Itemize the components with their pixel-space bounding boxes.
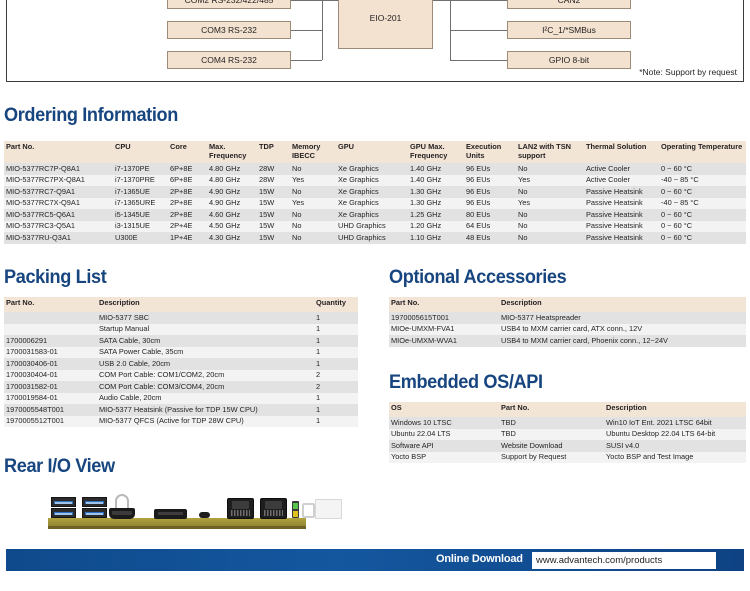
- cell-tdp: 28W: [257, 175, 290, 187]
- table-row: MIO-5377RC5-Q6A1 i5-1345UE 2P+8E 4.60 GH…: [4, 209, 746, 221]
- cell-tdp: 15W: [257, 221, 290, 233]
- section-title-rear-io-view: Rear I/O View: [4, 455, 115, 478]
- col-quantity: Quantity: [314, 297, 358, 313]
- diagram-line: [291, 30, 322, 31]
- table-row: 1700031583-01 SATA Power Cable, 35cm 1: [4, 347, 358, 359]
- cell-part-no: TBD: [499, 429, 604, 441]
- pcb-edge: [48, 526, 306, 529]
- cell-lan2: Yes: [516, 198, 584, 210]
- table-row: MIOe-UMXM-FVA1 USB4 to MXM carrier card,…: [389, 324, 746, 336]
- col-part-no: Part No.: [499, 402, 604, 418]
- cell-cpu: i7-1370PE: [113, 163, 168, 175]
- table-row: Windows 10 LTSC TBD Win10 IoT Ent. 2021 …: [389, 417, 746, 429]
- cell-max-freq: 4.80 GHz: [207, 175, 257, 187]
- cell-part-no: 1700030406-01: [4, 358, 97, 370]
- cell-tdp: 28W: [257, 163, 290, 175]
- cell-part-no: Support by Request: [499, 452, 604, 464]
- cell-thermal: Passive Heatsink: [584, 198, 659, 210]
- cell-part-no: 1700030404-01: [4, 370, 97, 382]
- table-row: Yocto BSP Support by Request Yocto BSP a…: [389, 452, 746, 464]
- cell-core: 6P+8E: [168, 163, 207, 175]
- cell-description: Audio Cable, 20cm: [97, 393, 314, 405]
- cell-thermal: Active Cooler: [584, 175, 659, 187]
- cell-lan2: No: [516, 163, 584, 175]
- col-max-freq: Max. Frequency: [207, 141, 257, 164]
- cell-description: USB 2.0 Cable, 20cm: [97, 358, 314, 370]
- online-download-url[interactable]: www.advantech.com/products: [532, 552, 716, 569]
- block-diagram-frame: COM2 RS-232/422/485 COM3 RS-232 COM4 RS-…: [6, 0, 744, 82]
- cell-gpu-freq: 1.10 GHz: [408, 232, 464, 244]
- diagram-line: [291, 0, 322, 1]
- cell-temp: 0 ~ 60 °C: [659, 221, 746, 233]
- cell-description: USB4 to MXM carrier card, ATX conn., 12V: [499, 324, 746, 336]
- table-row: 1700031582-01 COM Port Cable: COM3/COM4,…: [4, 381, 358, 393]
- cell-core: 2P+4E: [168, 221, 207, 233]
- section-title-optional-accessories: Optional Accessories: [389, 266, 566, 289]
- col-description: Description: [604, 402, 746, 418]
- cell-description: SATA Cable, 30cm: [97, 335, 314, 347]
- optional-accessories-table: Part No. Description 1970005615T001 MIO-…: [389, 296, 746, 347]
- cell-tdp: 15W: [257, 209, 290, 221]
- cell-gpu: Xe Graphics: [336, 175, 408, 187]
- col-os: OS: [389, 402, 499, 418]
- cell-part-no: 1970005512T001: [4, 416, 97, 428]
- col-part-no: Part No.: [4, 141, 113, 164]
- cell-description: MIO-5377 SBC: [97, 312, 314, 324]
- col-thermal: Thermal Solution: [584, 141, 659, 164]
- cell-tdp: 15W: [257, 232, 290, 244]
- col-gpu: GPU: [336, 141, 408, 164]
- diagram-line: [450, 0, 507, 1]
- diagram-block-com2: COM2 RS-232/422/485: [167, 0, 291, 9]
- cell-temp: -40 ~ 85 °C: [659, 175, 746, 187]
- cell-max-freq: 4.90 GHz: [207, 198, 257, 210]
- cell-gpu-freq: 1.40 GHz: [408, 163, 464, 175]
- cell-tdp: 15W: [257, 186, 290, 198]
- section-title-ordering: Ordering Information: [4, 104, 178, 127]
- cell-lan2: Yes: [516, 175, 584, 187]
- cell-description: SATA Power Cable, 35cm: [97, 347, 314, 359]
- packing-list-table: Part No. Description Quantity MIO-5377 S…: [4, 296, 358, 427]
- usb3-port-icon: [82, 508, 107, 518]
- cell-part-no: 1700031582-01: [4, 381, 97, 393]
- cell-part-no: 1700019584-01: [4, 393, 97, 405]
- cell-gpu-freq: 1.30 GHz: [408, 186, 464, 198]
- table-header-row: Part No. Description: [389, 297, 746, 313]
- footer-bar: Online Download www.advantech.com/produc…: [6, 549, 744, 571]
- col-description: Description: [97, 297, 314, 313]
- rear-io-photo: [43, 492, 314, 538]
- col-description: Description: [499, 297, 746, 313]
- cell-description: MIO-5377 QFCS (Active for TDP 28W CPU): [97, 416, 314, 428]
- cell-thermal: Passive Heatsink: [584, 186, 659, 198]
- cell-description: Win10 IoT Ent. 2021 LTSC 64bit: [604, 417, 746, 429]
- cell-description: Startup Manual: [97, 324, 314, 336]
- cell-part-no: TBD: [499, 417, 604, 429]
- cell-description: MIO-5377 Heatspreader: [499, 312, 746, 324]
- cell-part-no: MIOe-UMXM-FVA1: [389, 324, 499, 336]
- cell-description: USB4 to MXM carrier card, Phoenix conn.,…: [499, 335, 746, 347]
- cell-lan2: No: [516, 186, 584, 198]
- cell-eus: 96 EUs: [464, 175, 516, 187]
- cell-tdp: 15W: [257, 198, 290, 210]
- table-row: MIOe-UMXM-WVA1 USB4 to MXM carrier card,…: [389, 335, 746, 347]
- col-lan2-tsn: LAN2 with TSN support: [516, 141, 584, 164]
- cell-lan2: No: [516, 209, 584, 221]
- cell-quantity: 1: [314, 404, 358, 416]
- os-api-table-body: Windows 10 LTSC TBD Win10 IoT Ent. 2021 …: [389, 417, 746, 463]
- cell-part-no: MIOe-UMXM-WVA1: [389, 335, 499, 347]
- accessories-table-body: 1970005615T001 MIO-5377 Heatspreader MIO…: [389, 312, 746, 347]
- table-row: Startup Manual 1: [4, 324, 358, 336]
- cell-lan2: No: [516, 232, 584, 244]
- col-part-no: Part No.: [4, 297, 97, 313]
- table-row: Ubuntu 22.04 LTS TBD Ubuntu Desktop 22.0…: [389, 429, 746, 441]
- cell-gpu: Xe Graphics: [336, 198, 408, 210]
- cell-os: Ubuntu 22.04 LTS: [389, 429, 499, 441]
- cell-part-no: 1700031583-01: [4, 347, 97, 359]
- cell-eus: 64 EUs: [464, 221, 516, 233]
- cell-description: MIO-5377 Heatsink (Passive for TDP 15W C…: [97, 404, 314, 416]
- cell-eus: 96 EUs: [464, 186, 516, 198]
- led-yellow: [293, 511, 298, 517]
- cell-thermal: Passive Heatsink: [584, 221, 659, 233]
- cell-gpu: Xe Graphics: [336, 186, 408, 198]
- cell-ibecc: Yes: [290, 175, 336, 187]
- diagram-block-i2c-smbus: I²C_1/*SMBus: [507, 21, 631, 39]
- cell-temp: 0 ~ 60 °C: [659, 209, 746, 221]
- cell-gpu: Xe Graphics: [336, 163, 408, 175]
- cell-core: 2P+8E: [168, 186, 207, 198]
- cell-eus: 48 EUs: [464, 232, 516, 244]
- cell-gpu-freq: 1.40 GHz: [408, 175, 464, 187]
- cell-quantity: 1: [314, 416, 358, 428]
- cell-gpu: UHD Graphics: [336, 232, 408, 244]
- cell-part-no: Website Download: [499, 440, 604, 452]
- cell-description: COM Port Cable: COM3/COM4, 20cm: [97, 381, 314, 393]
- packing-table-body: MIO-5377 SBC 1 Startup Manual 1 17000062…: [4, 312, 358, 427]
- cell-cpu: i7-1365URE: [113, 198, 168, 210]
- col-part-no: Part No.: [389, 297, 499, 313]
- cell-part-no: MIO-5377RC5-Q6A1: [4, 209, 113, 221]
- rj45-lan-port-icon: [227, 498, 254, 519]
- table-row: 1700030404-01 COM Port Cable: COM1/COM2,…: [4, 370, 358, 382]
- cell-ibecc: No: [290, 209, 336, 221]
- col-exec-units: Execution Units: [464, 141, 516, 164]
- cell-gpu-freq: 1.20 GHz: [408, 221, 464, 233]
- cell-eus: 80 EUs: [464, 209, 516, 221]
- table-row: MIO-5377RU-Q3A1 U300E 1P+4E 4.30 GHz 15W…: [4, 232, 746, 244]
- diagram-line: [450, 30, 507, 31]
- usb3-port-icon: [82, 497, 107, 507]
- table-header-row: Part No. Description Quantity: [4, 297, 358, 313]
- cell-max-freq: 4.60 GHz: [207, 209, 257, 221]
- cell-core: 2P+8E: [168, 209, 207, 221]
- cell-max-freq: 4.30 GHz: [207, 232, 257, 244]
- cell-max-freq: 4.80 GHz: [207, 163, 257, 175]
- cell-ibecc: No: [290, 232, 336, 244]
- cell-quantity: 1: [314, 393, 358, 405]
- diagram-line: [450, 60, 507, 61]
- cell-part-no: [4, 324, 97, 336]
- col-tdp: TDP: [257, 141, 290, 164]
- usb3-port-icon: [51, 497, 76, 507]
- col-memory-ibecc: Memory IBECC: [290, 141, 336, 164]
- table-row: MIO-5377RC7-Q9A1 i7-1365UE 2P+8E 4.90 GH…: [4, 186, 746, 198]
- cell-ibecc: No: [290, 163, 336, 175]
- cell-part-no: [4, 312, 97, 324]
- diagram-line: [322, 0, 338, 1]
- cell-description: SUSI v4.0: [604, 440, 746, 452]
- cell-os: Yocto BSP: [389, 452, 499, 464]
- table-row: MIO-5377 SBC 1: [4, 312, 358, 324]
- cell-thermal: Active Cooler: [584, 163, 659, 175]
- cell-eus: 96 EUs: [464, 163, 516, 175]
- table-header-row: OS Part No. Description: [389, 402, 746, 418]
- cell-cpu: i3-1315UE: [113, 221, 168, 233]
- cell-quantity: 2: [314, 370, 358, 382]
- cell-part-no: 1970005615T001: [389, 312, 499, 324]
- ordering-table-body: MIO-5377RC7P-Q8A1 i7-1370PE 6P+8E 4.80 G…: [4, 163, 746, 244]
- table-row: 1700030406-01 USB 2.0 Cable, 20cm 1: [4, 358, 358, 370]
- cell-part-no: MIO-5377RC7PX-Q8A1: [4, 175, 113, 187]
- cell-gpu-freq: 1.30 GHz: [408, 198, 464, 210]
- led-indicator-icon: [292, 501, 299, 518]
- cell-max-freq: 4.90 GHz: [207, 186, 257, 198]
- section-title-embedded-os-api: Embedded OS/API: [389, 371, 543, 394]
- cell-ibecc: Yes: [290, 198, 336, 210]
- cell-part-no: MIO-5377RC3-Q5A1: [4, 221, 113, 233]
- table-row: 1700019584-01 Audio Cable, 20cm 1: [4, 393, 358, 405]
- cell-part-no: 1700006291: [4, 335, 97, 347]
- table-row: Software API Website Download SUSI v4.0: [389, 440, 746, 452]
- table-row: 1970005548T001 MIO-5377 Heatsink (Passiv…: [4, 404, 358, 416]
- cell-core: 1P+4E: [168, 232, 207, 244]
- cell-gpu: UHD Graphics: [336, 221, 408, 233]
- cell-cpu: U300E: [113, 232, 168, 244]
- cell-os: Windows 10 LTSC: [389, 417, 499, 429]
- cell-cpu: i5-1345UE: [113, 209, 168, 221]
- cell-quantity: 1: [314, 335, 358, 347]
- col-cpu: CPU: [113, 141, 168, 164]
- cell-temp: 0 ~ 60 °C: [659, 163, 746, 175]
- diagram-block-com3: COM3 RS-232: [167, 21, 291, 39]
- cell-ibecc: No: [290, 221, 336, 233]
- cell-os: Software API: [389, 440, 499, 452]
- cell-description: COM Port Cable: COM1/COM2, 20cm: [97, 370, 314, 382]
- section-title-packing-list: Packing List: [4, 266, 106, 289]
- diagram-block-gpio: GPIO 8-bit: [507, 51, 631, 69]
- table-row: 1970005615T001 MIO-5377 Heatspreader: [389, 312, 746, 324]
- table-row: MIO-5377RC7PX-Q8A1 i7-1370PRE 6P+8E 4.80…: [4, 175, 746, 187]
- diagram-line: [322, 0, 323, 60]
- table-row: 1700006291 SATA Cable, 30cm 1: [4, 335, 358, 347]
- rj45-lan-port-icon: [260, 498, 287, 519]
- table-row: MIO-5377RC3-Q5A1 i3-1315UE 2P+4E 4.50 GH…: [4, 221, 746, 233]
- cell-cpu: i7-1370PRE: [113, 175, 168, 187]
- cell-description: Yocto BSP and Test Image: [604, 452, 746, 464]
- diagram-line: [291, 60, 322, 61]
- hdmi-port-icon: [154, 509, 187, 519]
- cell-part-no: 1970005548T001: [4, 404, 97, 416]
- online-download-label: Online Download: [436, 553, 523, 565]
- table-row: MIO-5377RC7X-Q9A1 i7-1365URE 2P+8E 4.90 …: [4, 198, 746, 210]
- ordering-information-table: Part No. CPU Core Max. Frequency TDP Mem…: [4, 140, 746, 244]
- diagram-block-com4: COM4 RS-232: [167, 51, 291, 69]
- table-row: MIO-5377RC7P-Q8A1 i7-1370PE 6P+8E 4.80 G…: [4, 163, 746, 175]
- cell-quantity: 1: [314, 358, 358, 370]
- col-gpu-max-freq: GPU Max. Frequency: [408, 141, 464, 164]
- power-header-icon: [302, 503, 315, 518]
- usb-type-c-icon: [199, 512, 210, 518]
- cell-quantity: 2: [314, 381, 358, 393]
- cell-eus: 96 EUs: [464, 198, 516, 210]
- cell-max-freq: 4.50 GHz: [207, 221, 257, 233]
- displayport-icon: [109, 508, 135, 519]
- diagram-block-eio201: EIO-201: [338, 0, 433, 49]
- col-core: Core: [168, 141, 207, 164]
- white-connector-icon: [315, 499, 342, 519]
- table-row: 1970005512T001 MIO-5377 QFCS (Active for…: [4, 416, 358, 428]
- diagram-block-can2: CAN2: [507, 0, 631, 9]
- diagram-note: *Note: Support by request: [639, 67, 737, 77]
- cell-cpu: i7-1365UE: [113, 186, 168, 198]
- led-green: [293, 503, 298, 509]
- cell-core: 2P+8E: [168, 198, 207, 210]
- cell-quantity: 1: [314, 312, 358, 324]
- cell-description: Ubuntu Desktop 22.04 LTS 64-bit: [604, 429, 746, 441]
- cell-ibecc: No: [290, 186, 336, 198]
- usb3-port-icon: [51, 508, 76, 518]
- cell-core: 6P+8E: [168, 175, 207, 187]
- diagram-line: [433, 0, 450, 1]
- cell-quantity: 1: [314, 347, 358, 359]
- embedded-os-api-table: OS Part No. Description Windows 10 LTSC …: [389, 401, 746, 463]
- cell-temp: -40 ~ 85 °C: [659, 198, 746, 210]
- cell-thermal: Passive Heatsink: [584, 209, 659, 221]
- cell-quantity: 1: [314, 324, 358, 336]
- cell-part-no: MIO-5377RU-Q3A1: [4, 232, 113, 244]
- table-header-row: Part No. CPU Core Max. Frequency TDP Mem…: [4, 141, 746, 164]
- cell-thermal: Passive Heatsink: [584, 232, 659, 244]
- col-op-temp: Operating Temperature: [659, 141, 746, 164]
- cell-temp: 0 ~ 60 °C: [659, 186, 746, 198]
- cell-gpu-freq: 1.25 GHz: [408, 209, 464, 221]
- cell-lan2: No: [516, 221, 584, 233]
- cell-part-no: MIO-5377RC7X-Q9A1: [4, 198, 113, 210]
- cell-part-no: MIO-5377RC7-Q9A1: [4, 186, 113, 198]
- cell-gpu: Xe Graphics: [336, 209, 408, 221]
- cell-part-no: MIO-5377RC7P-Q8A1: [4, 163, 113, 175]
- cell-temp: 0 ~ 60 °C: [659, 232, 746, 244]
